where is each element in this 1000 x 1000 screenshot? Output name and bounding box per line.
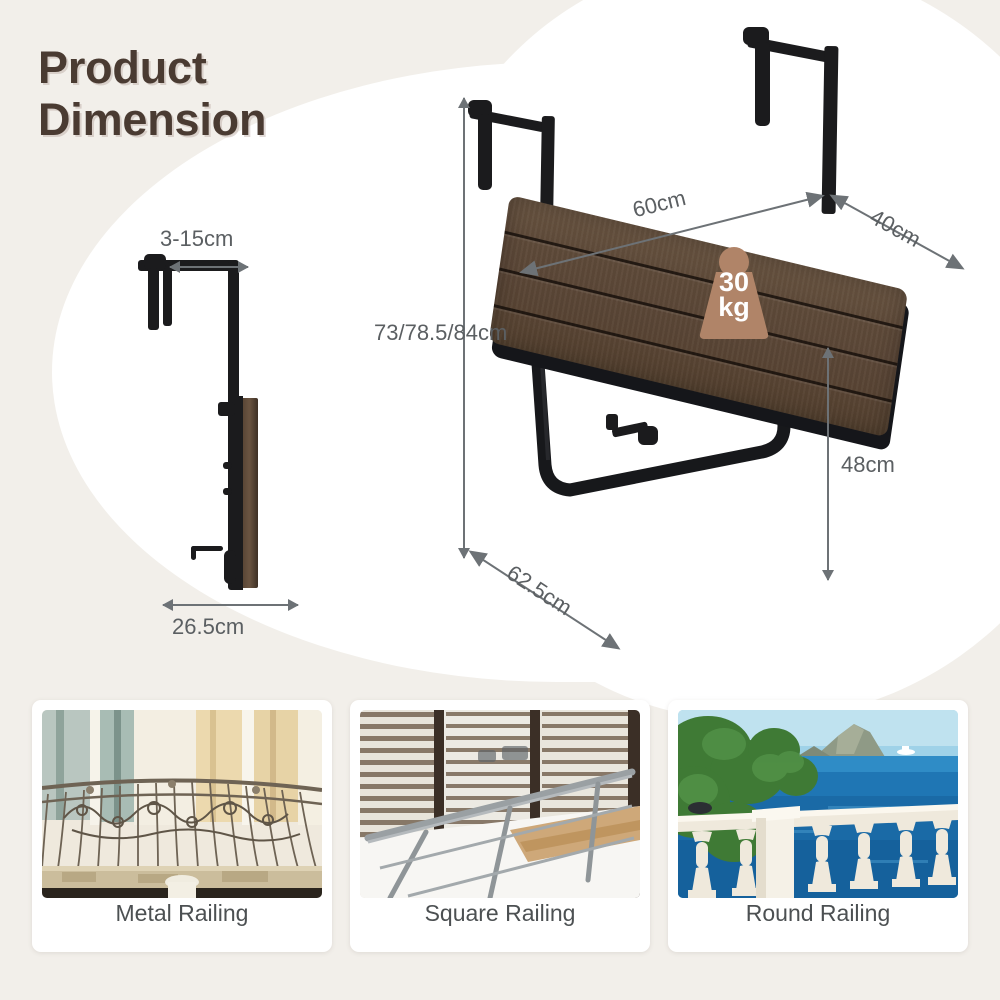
round-railing-photo xyxy=(678,710,958,898)
clearance-label: 48cm xyxy=(841,452,895,478)
modern-square-steel-railing-interior-image xyxy=(360,710,640,898)
page-title-line1: Product xyxy=(38,42,266,94)
weight-capacity-badge: 30 kg xyxy=(688,242,780,342)
folded-tabletop-edge xyxy=(236,396,243,590)
folded-depth-arrow xyxy=(170,266,248,268)
metal-railing-photo xyxy=(42,710,322,898)
lock-detail-2 xyxy=(223,488,232,495)
railing-card-metal[interactable]: Metal Railing xyxy=(32,700,332,952)
support-foot-end xyxy=(224,550,236,584)
support-foot-hook xyxy=(191,546,196,560)
page-title: Product Dimension xyxy=(38,42,266,146)
square-railing-photo xyxy=(360,710,640,898)
round-railing-caption: Round Railing xyxy=(668,900,968,927)
railing-card-round[interactable]: Round Railing xyxy=(668,700,968,952)
metal-railing-caption: Metal Railing xyxy=(32,900,332,927)
infographic-canvas: Product Dimension 3-15cm 26.5cm xyxy=(0,0,1000,1000)
ornate-wrought-iron-balcony-railing-image xyxy=(42,710,322,898)
clearance-arrow xyxy=(827,348,829,580)
stone-balustrade-seaside-view-image xyxy=(678,710,958,898)
weight-badge-text: 30 kg xyxy=(688,270,780,320)
folded-side-view-figure xyxy=(120,250,330,600)
hook-inner-leg-2 xyxy=(163,268,172,326)
lock-detail-1 xyxy=(223,462,232,469)
height-label: 73/78.5/84cm xyxy=(374,320,507,346)
folded-width-arrow xyxy=(163,604,298,606)
folded-width-label: 26.5cm xyxy=(172,614,244,640)
page-title-line2: Dimension xyxy=(38,94,266,146)
railing-card-square[interactable]: Square Railing xyxy=(350,700,650,952)
square-railing-caption: Square Railing xyxy=(350,900,650,927)
folded-depth-label: 3-15cm xyxy=(160,226,233,252)
weight-unit: kg xyxy=(688,295,780,320)
hinge-bracket xyxy=(218,402,235,416)
railing-cards: Metal Railing xyxy=(0,700,1000,975)
hook-inner-leg xyxy=(148,268,159,330)
lock-knob xyxy=(638,426,658,445)
